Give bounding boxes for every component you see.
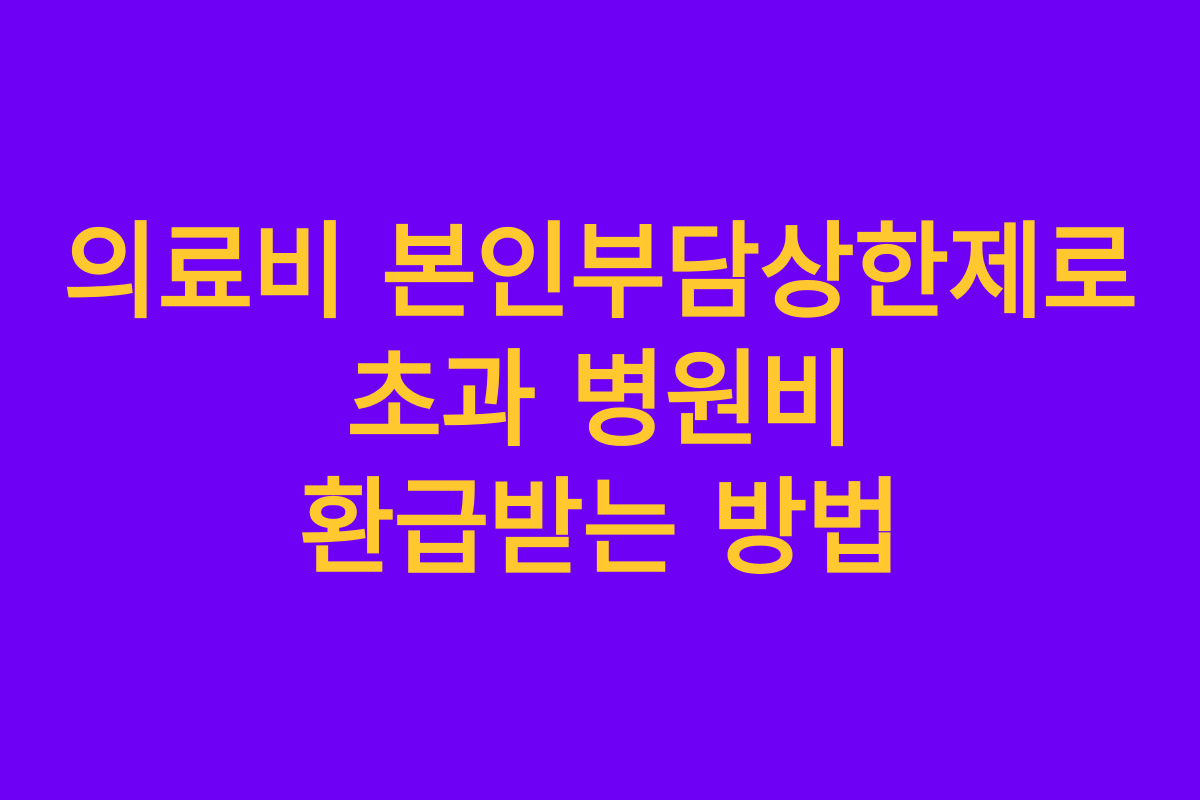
poster-canvas: 의료비 본인부담상한제로 초과 병원비 환급받는 방법 xyxy=(0,0,1200,800)
headline-line-2: 초과 병원비 xyxy=(346,336,853,464)
headline-block: 의료비 본인부담상한제로 초과 병원비 환급받는 방법 xyxy=(0,208,1200,592)
headline-line-1: 의료비 본인부담상한제로 xyxy=(63,208,1137,336)
headline-line-3: 환급받는 방법 xyxy=(299,464,901,592)
